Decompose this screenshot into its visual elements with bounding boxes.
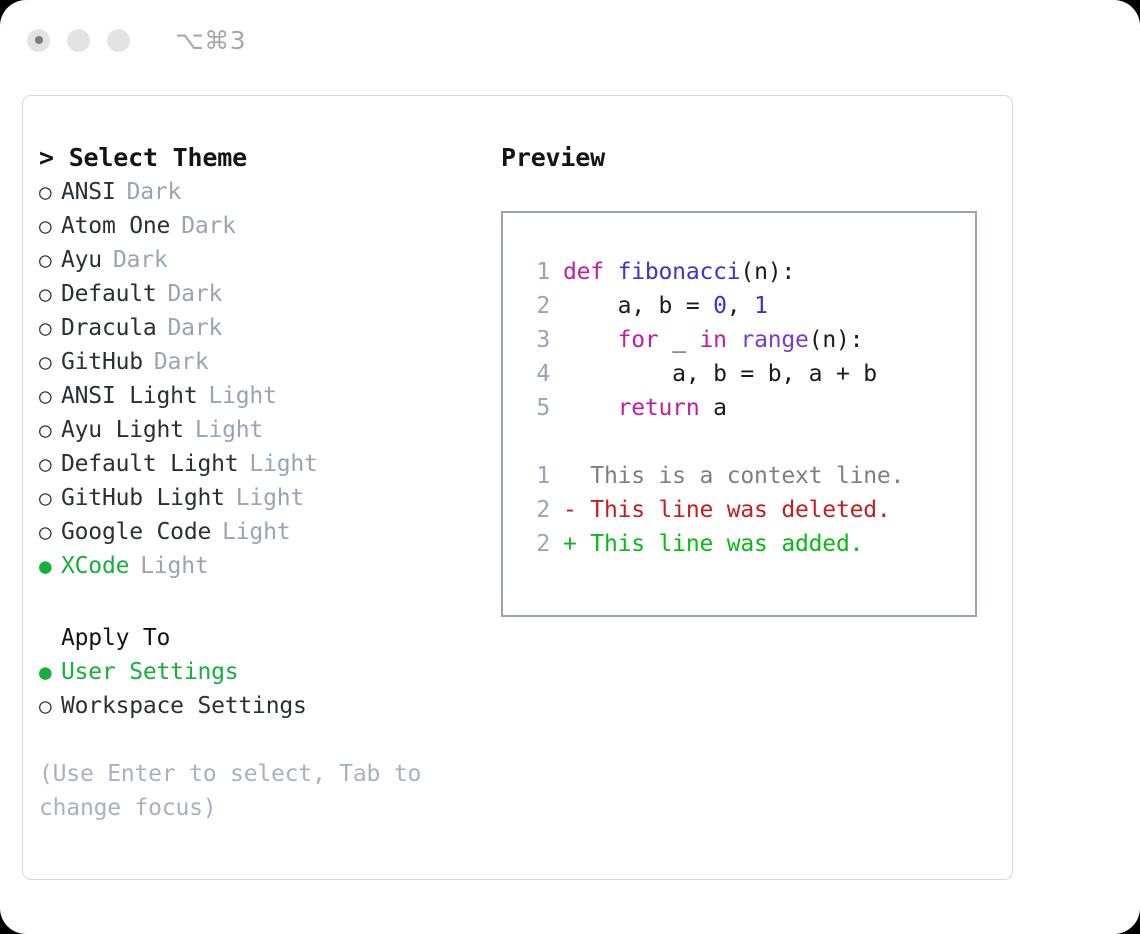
apply-to-header: Apply To xyxy=(39,621,479,655)
theme-option-github-light[interactable]: ○ GitHub Light Light xyxy=(39,481,479,515)
code-token: , xyxy=(727,289,754,323)
theme-option-xcode-light[interactable]: ● XCode Light xyxy=(39,549,479,583)
theme-tag: Light xyxy=(140,549,208,583)
code-token: (n): xyxy=(740,255,795,289)
theme-tag: Dark xyxy=(113,243,168,277)
apply-option-user-settings[interactable]: ● User Settings xyxy=(39,655,479,689)
theme-label: Default xyxy=(61,277,157,311)
code-token: a xyxy=(699,391,726,425)
line-number: 1 xyxy=(522,255,550,289)
theme-option-atom-one-dark[interactable]: ○ Atom One Dark xyxy=(39,209,479,243)
radio-selected-icon: ● xyxy=(39,655,61,689)
radio-icon: ○ xyxy=(39,413,61,447)
code-token: range xyxy=(740,323,808,357)
code-token: 1 xyxy=(754,289,768,323)
line-number: 4 xyxy=(522,357,550,391)
code-token xyxy=(563,391,618,425)
window-controls xyxy=(27,29,130,52)
theme-tag: Light xyxy=(249,447,317,481)
main-window: > Select Theme ○ ANSI Dark ○ Atom One Da… xyxy=(22,95,1013,880)
radio-icon: ○ xyxy=(39,345,61,379)
theme-label: Default Light xyxy=(61,447,238,481)
code-line: 1 def fibonacci (n): xyxy=(522,255,967,289)
theme-option-ayu-dark[interactable]: ○ Ayu Dark xyxy=(39,243,479,277)
radio-icon: ○ xyxy=(39,209,61,243)
line-number: 2 xyxy=(522,527,550,561)
theme-tag: Light xyxy=(208,379,276,413)
preview-header: Preview xyxy=(501,141,991,175)
code-line: 2 a, b = 0 , 1 xyxy=(522,289,967,323)
line-number: 2 xyxy=(522,493,550,527)
radio-icon: ○ xyxy=(39,277,61,311)
apply-option-workspace-settings[interactable]: ○ Workspace Settings xyxy=(39,689,479,723)
preview-box: 1 def fibonacci (n): 2 a, b = 0 , 1 xyxy=(501,211,977,617)
code-line: 5 return a xyxy=(522,391,967,425)
window-dot-inner xyxy=(35,36,43,44)
code-token: def xyxy=(563,255,618,289)
radio-icon: ○ xyxy=(39,515,61,549)
theme-label: ANSI xyxy=(61,175,116,209)
code-blank-line xyxy=(522,425,967,459)
window-dot-second[interactable] xyxy=(67,29,90,52)
radio-icon: ○ xyxy=(39,175,61,209)
theme-option-default-light[interactable]: ○ Default Light Light xyxy=(39,447,479,481)
line-number: 3 xyxy=(522,323,550,357)
radio-icon: ○ xyxy=(39,481,61,515)
theme-tag: Light xyxy=(222,515,290,549)
window-dot-active[interactable] xyxy=(27,29,50,52)
keyboard-shortcut-label: ⌥⌘3 xyxy=(175,26,246,55)
select-theme-header: > Select Theme xyxy=(39,141,479,175)
code-token: _ xyxy=(659,323,700,357)
theme-label: XCode xyxy=(61,549,129,583)
app-window: ⌥⌘3 > Select Theme ○ ANSI Dark ○ Atom On… xyxy=(0,0,1140,934)
radio-icon: ○ xyxy=(39,311,61,345)
theme-tag: Dark xyxy=(154,345,209,379)
diff-line-added: 2 + This line was added. xyxy=(522,527,967,561)
theme-tag: Light xyxy=(195,413,263,447)
radio-icon: ○ xyxy=(39,379,61,413)
radio-icon: ○ xyxy=(39,243,61,277)
radio-icon: ○ xyxy=(39,689,61,723)
theme-option-dracula-dark[interactable]: ○ Dracula Dark xyxy=(39,311,479,345)
spacer xyxy=(39,723,479,757)
panes: > Select Theme ○ ANSI Dark ○ Atom One Da… xyxy=(23,96,1012,879)
apply-option-label: Workspace Settings xyxy=(61,689,307,723)
theme-tag: Dark xyxy=(181,209,236,243)
title-bar: ⌥⌘3 xyxy=(0,0,1140,80)
theme-label: Ayu Light xyxy=(61,413,184,447)
theme-label: Dracula xyxy=(61,311,157,345)
code-line: 3 for _ in range (n): xyxy=(522,323,967,357)
diff-text: - This line was deleted. xyxy=(563,493,891,527)
theme-label: Google Code xyxy=(61,515,211,549)
code-token: (n): xyxy=(809,323,864,357)
theme-label: Ayu xyxy=(61,243,102,277)
diff-line-deleted: 2 - This line was deleted. xyxy=(522,493,967,527)
code-token: fibonacci xyxy=(618,255,741,289)
code-token: 0 xyxy=(713,289,727,323)
window-dot-third[interactable] xyxy=(107,29,130,52)
radio-selected-icon: ● xyxy=(39,549,61,583)
theme-option-ansi-dark[interactable]: ○ ANSI Dark xyxy=(39,175,479,209)
theme-tag: Dark xyxy=(168,311,223,345)
theme-label: GitHub Light xyxy=(61,481,225,515)
radio-icon: ○ xyxy=(39,447,61,481)
code-token: for xyxy=(618,323,659,357)
code-line: 4 a, b = b, a + b xyxy=(522,357,967,391)
line-number: 2 xyxy=(522,289,550,323)
code-token: a, b = xyxy=(563,289,713,323)
theme-selector-pane: > Select Theme ○ ANSI Dark ○ Atom One Da… xyxy=(39,141,479,825)
theme-label: GitHub xyxy=(61,345,143,379)
theme-label: ANSI Light xyxy=(61,379,197,413)
diff-text: + This line was added. xyxy=(563,527,863,561)
keyboard-hint-text: (Use Enter to select, Tab to change focu… xyxy=(39,757,459,825)
preview-pane: Preview 1 def fibonacci (n): 2 a, b = xyxy=(501,141,991,617)
code-token: in xyxy=(700,323,727,357)
theme-option-github-dark[interactable]: ○ GitHub Dark xyxy=(39,345,479,379)
diff-line-context: 1 This is a context line. xyxy=(522,459,967,493)
theme-option-ayu-light[interactable]: ○ Ayu Light Light xyxy=(39,413,479,447)
code-token: a, b = b, a + b xyxy=(563,357,877,391)
theme-tag: Light xyxy=(236,481,304,515)
theme-option-ansi-light[interactable]: ○ ANSI Light Light xyxy=(39,379,479,413)
line-number: 1 xyxy=(522,459,550,493)
code-token xyxy=(563,323,618,357)
theme-tag: Dark xyxy=(127,175,182,209)
diff-text: This is a context line. xyxy=(563,459,904,493)
spacer xyxy=(39,583,479,621)
theme-label: Atom One xyxy=(61,209,170,243)
line-number: 5 xyxy=(522,391,550,425)
theme-tag: Dark xyxy=(168,277,223,311)
theme-option-default-dark[interactable]: ○ Default Dark xyxy=(39,277,479,311)
code-sample: 1 def fibonacci (n): 2 a, b = 0 , 1 xyxy=(522,255,967,561)
apply-option-label: User Settings xyxy=(61,655,238,689)
code-token xyxy=(727,323,741,357)
theme-option-google-code-light[interactable]: ○ Google Code Light xyxy=(39,515,479,549)
code-token: return xyxy=(618,391,700,425)
